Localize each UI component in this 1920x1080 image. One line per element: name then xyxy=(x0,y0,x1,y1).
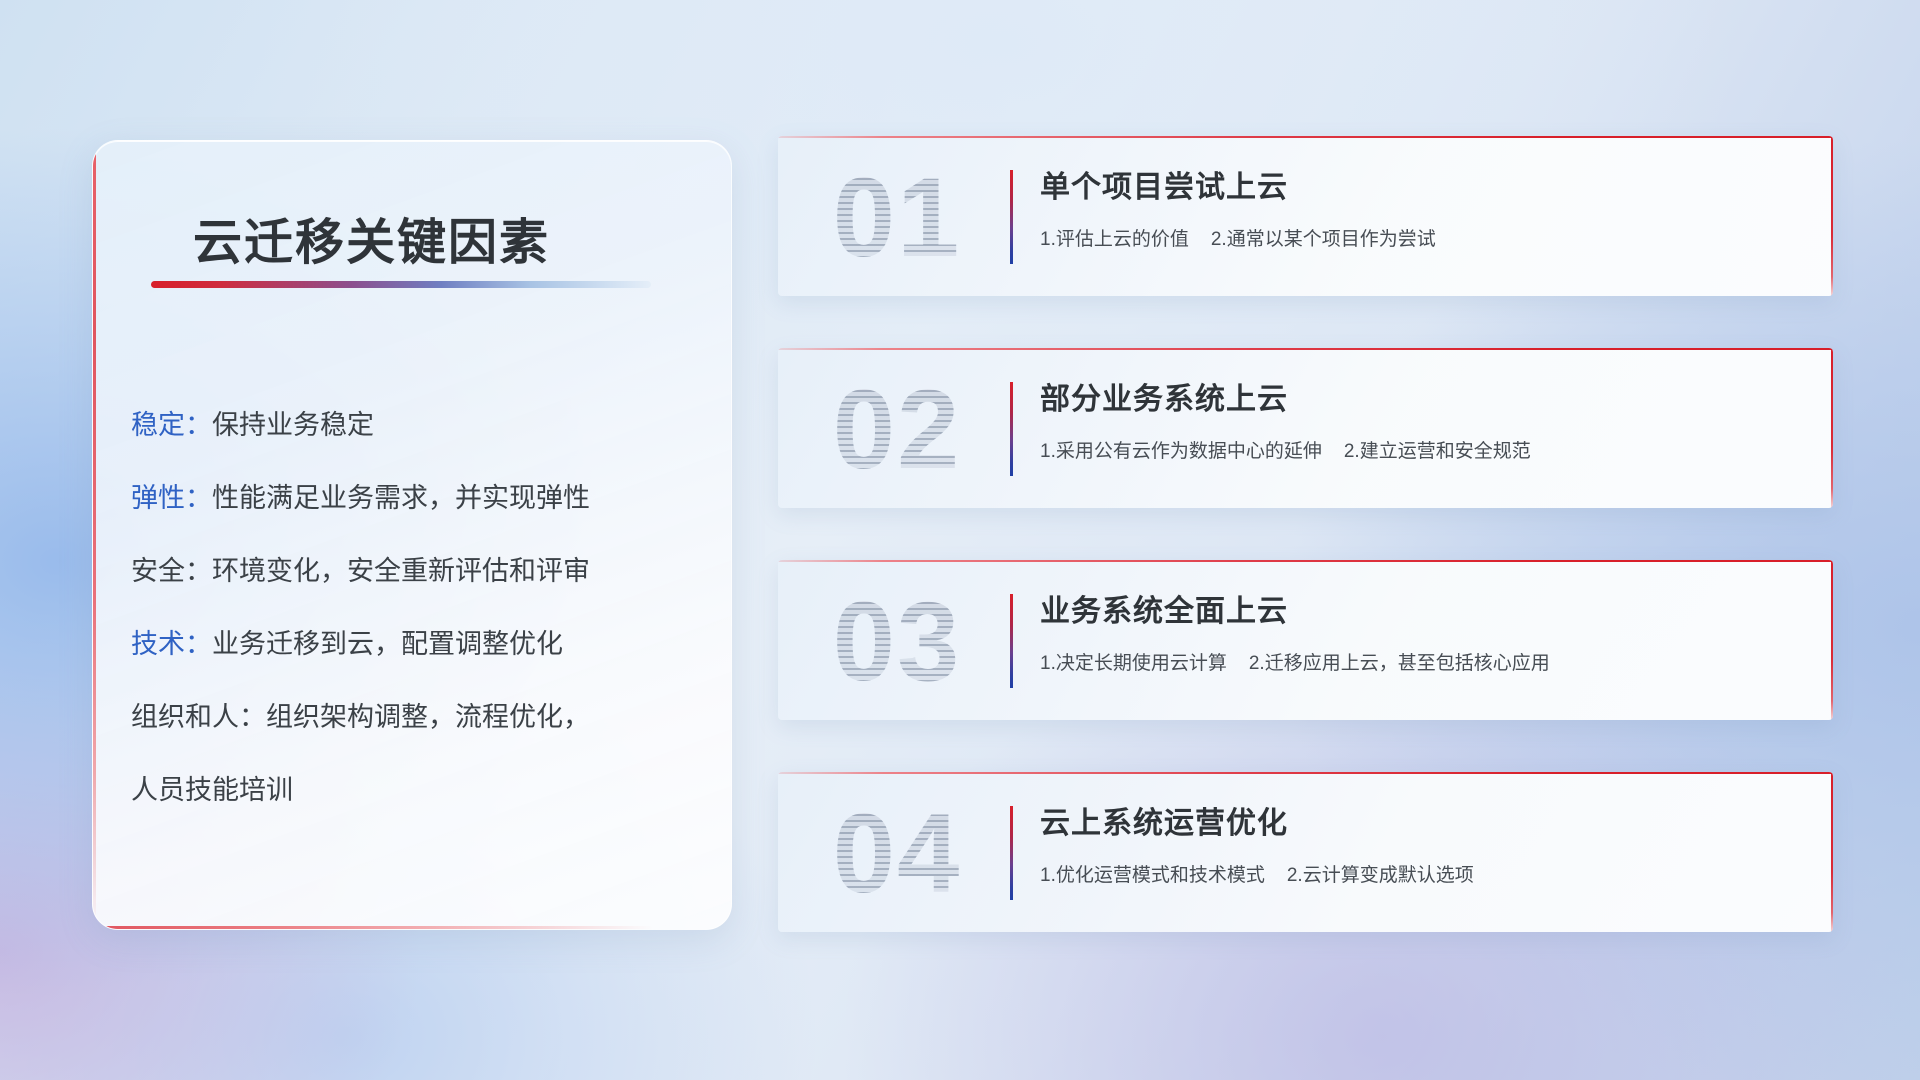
stage-card-body: 单个项目尝试上云1.评估上云的价值2.通常以某个项目作为尝试 xyxy=(1040,162,1803,251)
stage-point-1: 1.采用公有云作为数据中心的延伸 xyxy=(1040,441,1322,462)
stage-point-1: 1.优化运营模式和技术模式 xyxy=(1040,865,1265,886)
key-factor-label: 组织和人： xyxy=(131,702,266,732)
key-factor-label: 稳定： xyxy=(131,410,212,440)
stage-description: 1.优化运营模式和技术模式2.云计算变成默认选项 xyxy=(1040,860,1803,887)
stage-description: 1.评估上云的价值2.通常以某个项目作为尝试 xyxy=(1040,224,1803,251)
key-factor-row: 组织和人：组织架构调整，流程优化， xyxy=(131,681,705,754)
stage-point-2: 2.建立运营和安全规范 xyxy=(1344,441,1531,462)
vertical-divider xyxy=(1010,382,1013,476)
stage-number: 01 xyxy=(802,142,992,292)
slide-canvas: 云迁移关键因素 稳定：保持业务稳定弹性：性能满足业务需求，并实现弹性安全：环境变… xyxy=(0,0,1920,1080)
stage-number: 04 xyxy=(802,778,992,928)
key-factor-value: 环境变化，安全重新评估和评审 xyxy=(212,556,590,586)
stage-title: 单个项目尝试上云 xyxy=(1040,162,1803,206)
key-factor-label: 弹性： xyxy=(131,483,212,513)
stage-card-body: 部分业务系统上云1.采用公有云作为数据中心的延伸2.建立运营和安全规范 xyxy=(1040,374,1803,463)
stage-description: 1.采用公有云作为数据中心的延伸2.建立运营和安全规范 xyxy=(1040,436,1803,463)
key-factor-row: 稳定：保持业务稳定 xyxy=(131,389,705,462)
vertical-divider xyxy=(1010,170,1013,264)
key-factor-row: 人员技能培训 xyxy=(131,754,705,827)
key-factors-list: 稳定：保持业务稳定弹性：性能满足业务需求，并实现弹性安全：环境变化，安全重新评估… xyxy=(131,389,705,827)
key-factor-row: 安全：环境变化，安全重新评估和评审 xyxy=(131,535,705,608)
stage-description: 1.决定长期使用云计算2.迁移应用上云，甚至包括核心应用 xyxy=(1040,648,1803,675)
key-factor-label: 安全： xyxy=(131,556,212,586)
stage-title: 部分业务系统上云 xyxy=(1040,374,1803,418)
key-factors-panel: 云迁移关键因素 稳定：保持业务稳定弹性：性能满足业务需求，并实现弹性安全：环境变… xyxy=(92,140,732,930)
key-factor-value: 组织架构调整，流程优化， xyxy=(266,702,590,732)
stage-title: 云上系统运营优化 xyxy=(1040,798,1803,842)
stage-number: 02 xyxy=(802,354,992,504)
stage-card[interactable]: 01单个项目尝试上云1.评估上云的价值2.通常以某个项目作为尝试 xyxy=(778,136,1833,296)
stage-point-2: 2.迁移应用上云，甚至包括核心应用 xyxy=(1249,653,1550,674)
vertical-divider xyxy=(1010,594,1013,688)
stage-number: 03 xyxy=(802,566,992,716)
stage-point-2: 2.通常以某个项目作为尝试 xyxy=(1211,229,1436,250)
stage-point-2: 2.云计算变成默认选项 xyxy=(1287,865,1474,886)
key-factor-value: 保持业务稳定 xyxy=(212,410,374,440)
title-underline-gradient xyxy=(151,281,651,288)
stage-card-body: 业务系统全面上云1.决定长期使用云计算2.迁移应用上云，甚至包括核心应用 xyxy=(1040,586,1803,675)
key-factor-row: 弹性：性能满足业务需求，并实现弹性 xyxy=(131,462,705,535)
key-factor-value: 人员技能培训 xyxy=(131,775,293,805)
page-title: 云迁移关键因素 xyxy=(193,203,550,274)
stage-card[interactable]: 04云上系统运营优化1.优化运营模式和技术模式2.云计算变成默认选项 xyxy=(778,772,1833,932)
stage-card-body: 云上系统运营优化1.优化运营模式和技术模式2.云计算变成默认选项 xyxy=(1040,798,1803,887)
stage-title: 业务系统全面上云 xyxy=(1040,586,1803,630)
key-factor-value: 业务迁移到云，配置调整优化 xyxy=(212,629,563,659)
key-factor-row: 技术：业务迁移到云，配置调整优化 xyxy=(131,608,705,681)
stage-card[interactable]: 02部分业务系统上云1.采用公有云作为数据中心的延伸2.建立运营和安全规范 xyxy=(778,348,1833,508)
vertical-divider xyxy=(1010,806,1013,900)
stage-point-1: 1.决定长期使用云计算 xyxy=(1040,653,1227,674)
key-factor-label: 技术： xyxy=(131,629,212,659)
stage-card[interactable]: 03业务系统全面上云1.决定长期使用云计算2.迁移应用上云，甚至包括核心应用 xyxy=(778,560,1833,720)
migration-stage-cards: 01单个项目尝试上云1.评估上云的价值2.通常以某个项目作为尝试02部分业务系统… xyxy=(778,136,1833,932)
stage-point-1: 1.评估上云的价值 xyxy=(1040,229,1189,250)
key-factor-value: 性能满足业务需求，并实现弹性 xyxy=(212,483,590,513)
